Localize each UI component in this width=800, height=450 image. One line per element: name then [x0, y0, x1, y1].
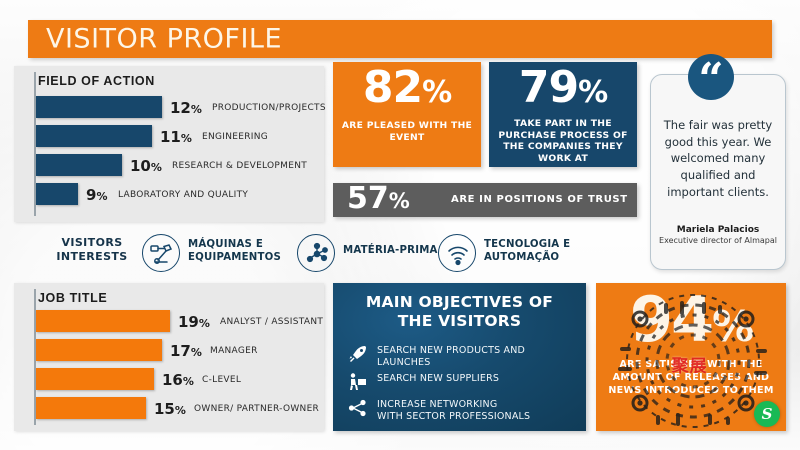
robot-arm-icon [142, 234, 180, 272]
bar-label-1: ENGINEERING [202, 132, 268, 142]
bar-job-1 [36, 339, 162, 361]
bar-value-job-3: 15% [154, 400, 186, 418]
bar-field-3 [36, 183, 78, 205]
wifi-icon [438, 234, 476, 272]
quote-glyph: “ [688, 54, 734, 106]
stat-value-purchase: 79% [489, 66, 637, 110]
infographic-canvas: VISITOR PROFILE FIELD OF ACTION 12% PROD… [0, 0, 800, 450]
stat-caption-purchase: TAKE PART IN THE PURCHASE PROCESS OF THE… [495, 118, 631, 164]
bar-label-job-1: MANAGER [210, 346, 258, 356]
bar-job-2 [36, 368, 154, 390]
bar-value-2: 10% [130, 157, 162, 175]
bar-value-3: 9% [86, 186, 107, 204]
bar-label-job-2: C-LEVEL [202, 375, 241, 385]
share-icon [347, 397, 369, 419]
wechat-badge-icon: S [754, 401, 780, 427]
stat-value-pleased: 82% [333, 66, 481, 110]
main-objectives-card: MAIN OBJECTIVES OFTHE VISITORS SEARCH NE… [333, 283, 586, 431]
bar-value-1: 11% [160, 128, 192, 146]
bar-field-1 [36, 125, 152, 147]
quote-mark-icon: “ [688, 54, 734, 100]
objective-label-0: SEARCH NEW PRODUCTS AND LAUNCHES [377, 345, 578, 370]
badge-glyph: S [754, 401, 780, 427]
interest-label-2: TECNOLOGIA EAUTOMAÇÃO [484, 239, 570, 265]
field-of-action-title: FIELD OF ACTION [38, 74, 155, 88]
bar-label-3: LABORATORY AND QUALITY [118, 190, 248, 200]
bar-label-2: RESEARCH & DEVELOPMENT [172, 161, 307, 171]
bar-value-0: 12% [170, 99, 202, 117]
interest-label-0: MÁQUINAS EEQUIPAMENTOS [188, 239, 281, 265]
interest-label-1: MATÉRIA-PRIMA [343, 245, 438, 258]
bar-value-job-0: 19% [178, 313, 210, 331]
bar-field-2 [36, 154, 122, 176]
objective-label-1: SEARCH NEW SUPPLIERS [377, 373, 499, 385]
qr-code-watermark: 聚展 [610, 291, 776, 431]
stat-card-pleased: 82% ARE PLEASED WITH THE EVENT [333, 62, 481, 167]
testimonial-text: The fair was pretty good this year. We w… [659, 117, 777, 200]
bar-label-job-0: ANALYST / ASSISTANT [220, 317, 323, 327]
molecule-icon [297, 234, 335, 272]
bar-label-job-3: OWNER/ PARTNER-OWNER [194, 404, 319, 414]
stat-caption-pleased: ARE PLEASED WITH THE EVENT [339, 120, 475, 143]
visitor-interests-label: VISITORSINTERESTS [42, 236, 142, 265]
bar-label-0: PRODUCTION/PROJECTS [212, 103, 326, 113]
main-objectives-title: MAIN OBJECTIVES OFTHE VISITORS [343, 293, 576, 332]
worker-icon [347, 371, 369, 393]
page-title: VISITOR PROFILE [46, 24, 282, 55]
stat-value-trust: 57% [347, 184, 410, 214]
objective-label-2: INCREASE NETWORKINGWITH SECTOR PROFESSIO… [377, 399, 530, 424]
visitor-interests-row: VISITORSINTERESTS MÁQUINAS EEQUIPAMENTOS [14, 228, 634, 280]
bar-job-3 [36, 397, 146, 419]
bar-job-0 [36, 310, 170, 332]
rocket-icon [347, 343, 369, 365]
stat-caption-trust: ARE IN POSITIONS OF TRUST [451, 194, 628, 205]
stat-card-satisfied: 94% ARE SATISFIED WITH THE AMOUNT OF REL… [596, 283, 786, 431]
bar-field-0 [36, 96, 162, 118]
page-header-banner: VISITOR PROFILE [28, 20, 772, 58]
bar-value-job-1: 17% [170, 342, 202, 360]
testimonial-role: Executive director of Almapal [657, 236, 779, 245]
job-title-title: JOB TITLE [38, 291, 107, 305]
stat-card-purchase: 79% TAKE PART IN THE PURCHASE PROCESS OF… [489, 62, 637, 167]
stat-card-trust: 57% ARE IN POSITIONS OF TRUST [333, 183, 637, 217]
field-of-action-card: FIELD OF ACTION 12% PRODUCTION/PROJECTS … [14, 66, 324, 222]
qr-watermark-text: 聚展 [672, 351, 708, 376]
job-title-card: JOB TITLE 19% ANALYST / ASSISTANT 17% MA… [14, 283, 324, 431]
bar-value-job-2: 16% [162, 371, 194, 389]
testimonial-author: Mariela Palacios [657, 225, 779, 235]
